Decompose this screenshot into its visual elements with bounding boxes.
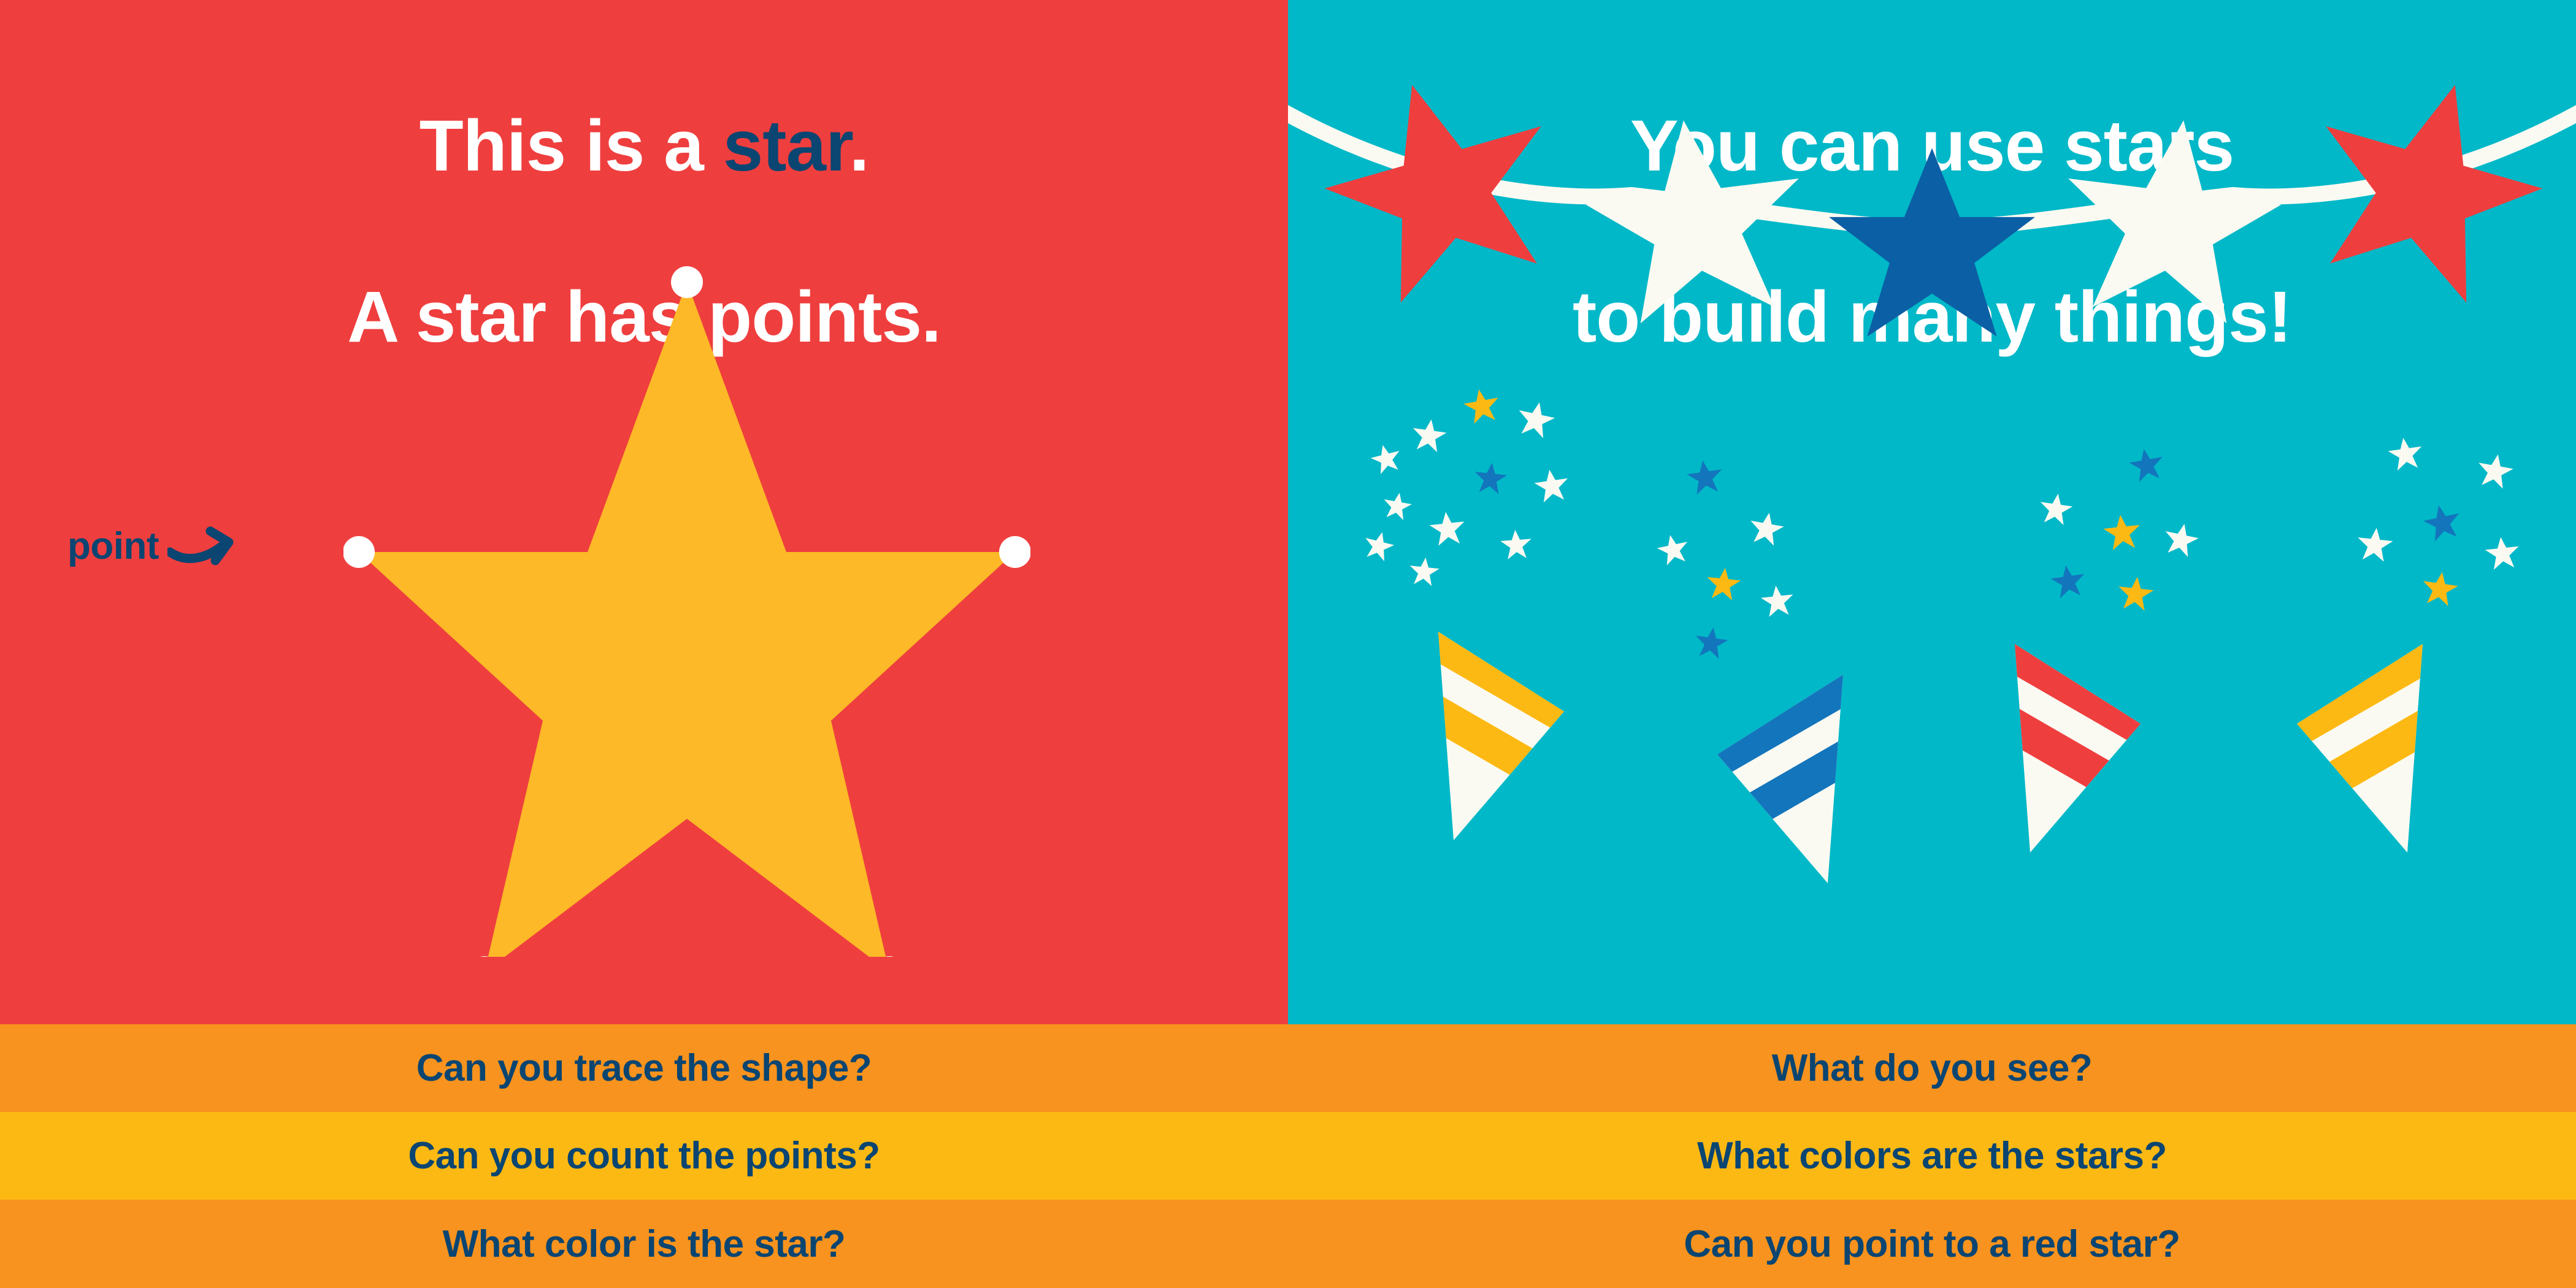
party-popper-1	[1413, 619, 1611, 840]
garland-star-navy-center	[1829, 148, 2035, 337]
question-right-2: What colors are the stars?	[1288, 1112, 2576, 1200]
point-annotation: point	[67, 524, 241, 568]
point-label: point	[67, 524, 159, 568]
main-star-illustration	[343, 264, 1030, 957]
confetti-burst-2	[1655, 458, 1795, 660]
question-band-1: Can you trace the shape? What do you see…	[0, 1024, 2576, 1112]
five-point-star-icon	[343, 264, 1030, 957]
question-bands: Can you trace the shape? What do you see…	[0, 1024, 2576, 1288]
right-panel: You can use stars to build many things!	[1288, 0, 2576, 1024]
star-body	[359, 282, 1015, 957]
question-band-3: What color is the star? Can you point to…	[0, 1200, 2576, 1288]
confetti-burst-1	[1361, 386, 1571, 587]
star-garland	[1288, 0, 2576, 429]
confetti-burst-4	[2356, 435, 2521, 607]
garland-star-red-right	[2290, 54, 2564, 314]
page-root: This is a star. A star has points. point	[0, 0, 2576, 1288]
garland-star-red-left	[1304, 54, 1577, 314]
left-panel: This is a star. A star has points. point	[0, 0, 1288, 1024]
question-band-2: Can you count the points? What colors ar…	[0, 1112, 2576, 1200]
question-left-3: What color is the star?	[0, 1200, 1288, 1288]
star-point-marker-top	[671, 266, 703, 298]
confetti-burst-3	[2037, 446, 2201, 611]
party-popper-3	[1990, 631, 2187, 853]
star-point-marker-left	[343, 536, 375, 568]
question-left-1: Can you trace the shape?	[0, 1024, 1288, 1112]
left-heading-prefix: This is a	[420, 105, 723, 186]
question-right-3: Can you point to a red star?	[1288, 1200, 2576, 1288]
star-point-marker-right	[999, 536, 1030, 568]
curved-arrow-right-icon	[167, 525, 241, 568]
question-left-2: Can you count the points?	[0, 1112, 1288, 1200]
party-popper-2	[1668, 665, 1866, 883]
left-heading-accent-word: star	[723, 105, 849, 186]
party-popper-4	[2248, 634, 2445, 853]
party-poppers-group	[1288, 368, 2576, 1024]
left-heading-line-1: This is a star.	[0, 104, 1288, 189]
left-heading-period: .	[849, 105, 869, 186]
question-right-1: What do you see?	[1288, 1024, 2576, 1112]
